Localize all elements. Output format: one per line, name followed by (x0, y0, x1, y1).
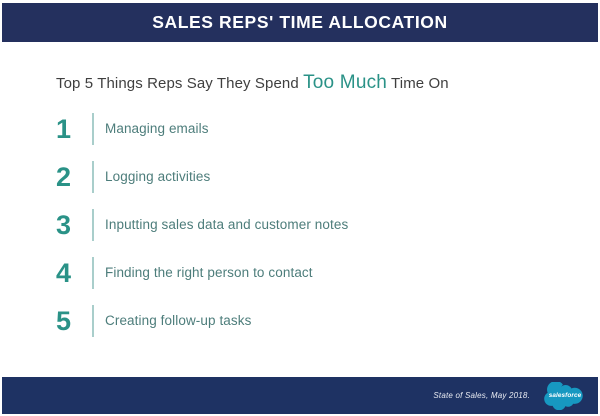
ranked-list: 1 Managing emails 2 Logging activities 3… (56, 105, 556, 345)
subtitle-text-before: Top 5 Things Reps Say They Spend (56, 75, 303, 92)
list-item: 2 Logging activities (56, 153, 556, 201)
rank-divider (92, 305, 94, 337)
header-bar: SALES REPS' TIME ALLOCATION (2, 3, 598, 42)
page-title: SALES REPS' TIME ALLOCATION (152, 12, 448, 33)
list-item-label: Managing emails (105, 121, 209, 137)
list-item: 3 Inputting sales data and customer note… (56, 201, 556, 249)
rank-number: 4 (56, 260, 92, 287)
rank-divider (92, 113, 94, 145)
list-item: 4 Finding the right person to contact (56, 249, 556, 297)
subtitle-text-after: Time On (387, 75, 449, 92)
source-citation: State of Sales, May 2018. (433, 391, 530, 400)
rank-divider (92, 257, 94, 289)
salesforce-cloud-logo: salesforce (542, 382, 588, 410)
list-item-label: Logging activities (105, 169, 210, 185)
list-item-label: Finding the right person to contact (105, 265, 313, 281)
list-item: 5 Creating follow-up tasks (56, 297, 556, 345)
rank-number: 2 (56, 164, 92, 191)
rank-number: 5 (56, 308, 92, 335)
list-item: 1 Managing emails (56, 105, 556, 153)
rank-number: 3 (56, 212, 92, 239)
subtitle: Top 5 Things Reps Say They Spend Too Muc… (56, 72, 449, 94)
list-item-label: Inputting sales data and customer notes (105, 217, 348, 233)
rank-divider (92, 161, 94, 193)
footer-bar: State of Sales, May 2018. salesforce (2, 377, 598, 414)
infographic-canvas: SALES REPS' TIME ALLOCATION Top 5 Things… (0, 0, 600, 416)
rank-number: 1 (56, 116, 92, 143)
list-item-label: Creating follow-up tasks (105, 313, 251, 329)
subtitle-emphasis: Too Much (303, 72, 387, 93)
rank-divider (92, 209, 94, 241)
